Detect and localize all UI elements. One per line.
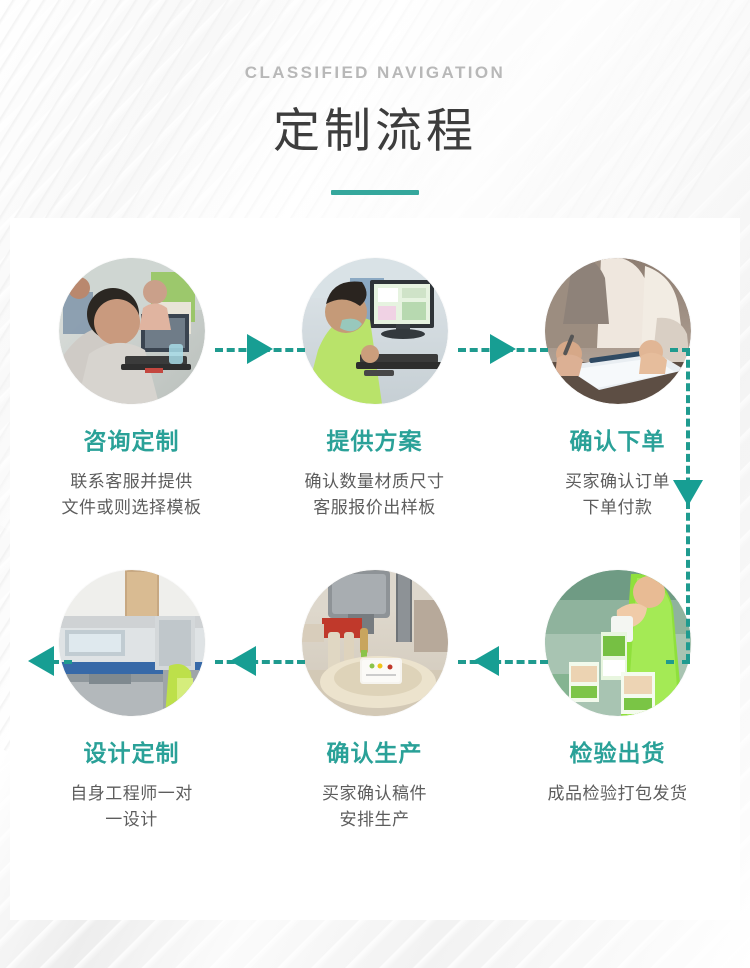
photo-designer-at-monitor bbox=[302, 258, 448, 404]
step-title: 检验出货 bbox=[570, 742, 666, 765]
step-description: 买家确认订单 下单付款 bbox=[565, 469, 670, 522]
flow-step-proposal[interactable]: 提供方案 确认数量材质尺寸 客服报价出样板 bbox=[253, 258, 496, 558]
flow-row-top: 咨询定制 联系客服并提供 文件或则选择模板 bbox=[10, 258, 740, 558]
flow-step-confirm-production[interactable]: 确认生产 买家确认稿件 安排生产 bbox=[253, 570, 496, 870]
photo-office-workers-at-computers bbox=[59, 258, 205, 404]
step-description: 自身工程师一对 一设计 bbox=[70, 781, 193, 834]
step-description: 联系客服并提供 文件或则选择模板 bbox=[62, 469, 202, 522]
flow-step-confirm-order[interactable]: 确认下单 买家确认订单 下单付款 bbox=[496, 258, 739, 558]
photo-printing-machine bbox=[302, 570, 448, 716]
flow-card: 咨询定制 联系客服并提供 文件或则选择模板 bbox=[10, 218, 740, 920]
page-title: 定制流程 bbox=[0, 103, 750, 158]
step-description: 确认数量材质尺寸 客服报价出样板 bbox=[305, 469, 445, 522]
flow-step-design[interactable]: 设计定制 自身工程师一对 一设计 bbox=[10, 570, 253, 870]
flow-row-bottom: 设计定制 自身工程师一对 一设计 bbox=[10, 570, 740, 870]
step-title: 提供方案 bbox=[327, 430, 423, 453]
step-title: 咨询定制 bbox=[84, 430, 180, 453]
step-title: 确认生产 bbox=[327, 742, 423, 765]
flow-step-consult[interactable]: 咨询定制 联系客服并提供 文件或则选择模板 bbox=[10, 258, 253, 558]
photo-packing-boxes bbox=[545, 570, 691, 716]
step-description: 买家确认稿件 安排生产 bbox=[322, 781, 427, 834]
page-background: CLASSIFIED NAVIGATION 定制流程 bbox=[0, 0, 750, 968]
page-header: CLASSIFIED NAVIGATION 定制流程 bbox=[0, 0, 750, 195]
flow-step-inspect-ship[interactable]: 检验出货 成品检验打包发货 bbox=[496, 570, 739, 870]
photo-workshop-benches bbox=[59, 570, 205, 716]
title-underline-rule bbox=[331, 190, 419, 195]
step-title: 确认下单 bbox=[570, 430, 666, 453]
photo-signing-documents bbox=[545, 258, 691, 404]
process-flow: 咨询定制 联系客服并提供 文件或则选择模板 bbox=[10, 218, 740, 920]
header-eyebrow: CLASSIFIED NAVIGATION bbox=[0, 64, 750, 81]
step-description: 成品检验打包发货 bbox=[548, 781, 688, 807]
step-title: 设计定制 bbox=[84, 742, 180, 765]
